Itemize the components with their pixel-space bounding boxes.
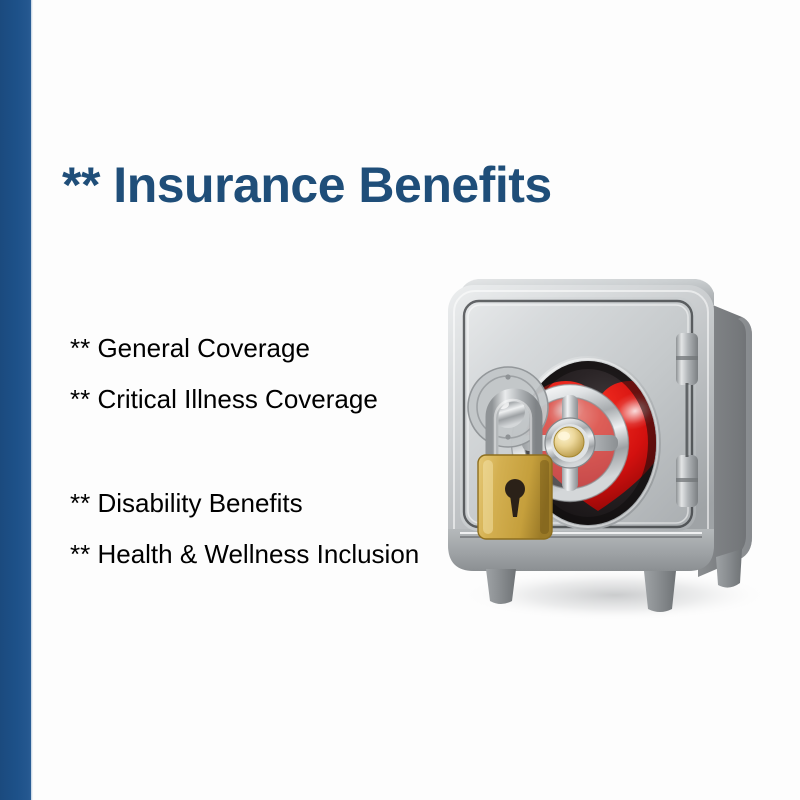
page-title: ** Insurance Benefits xyxy=(62,158,552,213)
list-item: ** Health & Wellness Inclusion xyxy=(70,541,470,571)
hasp-screw-top xyxy=(505,374,510,379)
left-accent-bar xyxy=(0,0,31,800)
benefits-list: ** General Coverage ** Critical Illness … xyxy=(70,335,470,592)
padlock-body-shadow xyxy=(540,460,549,534)
accent-bar-edge-highlight xyxy=(31,0,33,800)
hasp-screw-bottom xyxy=(505,434,510,439)
hinge-top-band xyxy=(676,356,698,360)
foot-left xyxy=(486,569,516,604)
padlock-body-highlight xyxy=(483,460,493,534)
hinge-bottom-band xyxy=(676,478,698,482)
list-item: ** General Coverage xyxy=(70,335,470,365)
wheel-gold-knob-highlight xyxy=(558,432,570,441)
list-group-spacer xyxy=(70,437,470,490)
foot-center xyxy=(644,571,676,612)
list-item: ** Critical Illness Coverage xyxy=(70,386,470,416)
safe-with-heart-illustration xyxy=(430,265,780,625)
list-item: ** Disability Benefits xyxy=(70,490,470,520)
slide-canvas: ** Insurance Benefits ** General Coverag… xyxy=(0,0,800,800)
